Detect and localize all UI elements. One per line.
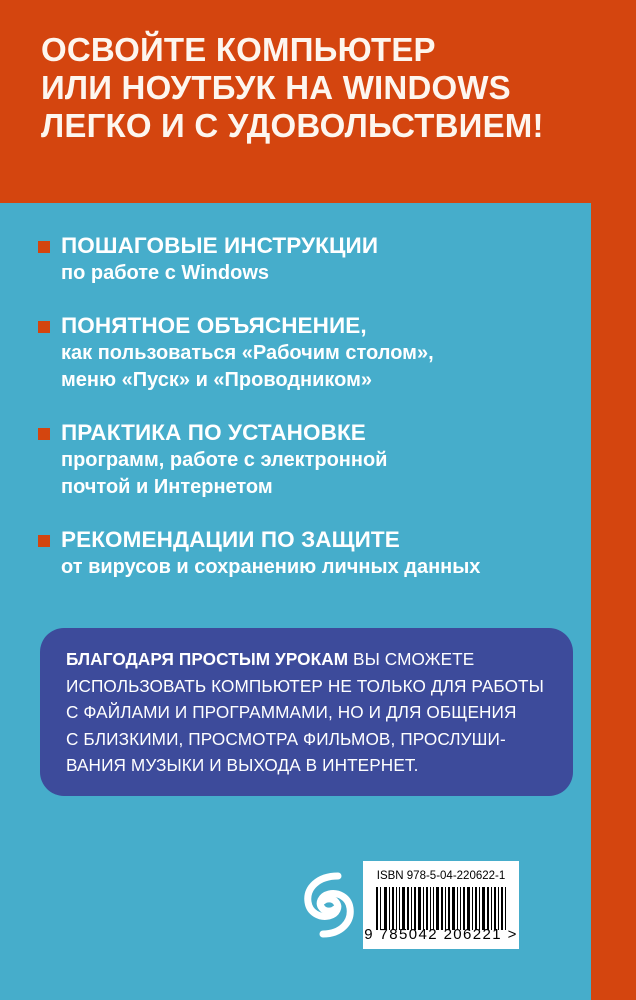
isbn-label: ISBN 978-5-04-220622-1 <box>363 870 519 882</box>
list-item: РЕКОМЕНДАЦИИ ПО ЗАЩИТЕ от вирусов и сохр… <box>38 526 568 581</box>
barcode-bars <box>376 887 506 930</box>
square-bullet-icon <box>38 241 50 253</box>
list-item-heading: ПОШАГОВЫЕ ИНСТРУКЦИИ <box>61 232 568 260</box>
summary-callout-box: БЛАГОДАРЯ ПРОСТЫМ УРОКАМ ВЫ СМОЖЕТЕ ИСПО… <box>40 628 573 796</box>
square-bullet-icon <box>38 321 50 333</box>
summary-callout-text: БЛАГОДАРЯ ПРОСТЫМ УРОКАМ ВЫ СМОЖЕТЕ ИСПО… <box>66 646 555 779</box>
list-item-heading: РЕКОМЕНДАЦИИ ПО ЗАЩИТЕ <box>61 526 568 554</box>
right-orange-edge <box>591 203 636 1000</box>
list-item-subtext: от вирусов и сохранению личных данных <box>61 554 568 581</box>
barcode-digits: 9 785042 206221 > <box>363 926 519 943</box>
book-back-cover: ОСВОЙТЕ КОМПЬЮТЕР ИЛИ НОУТБУК НА WINDOWS… <box>0 0 636 1000</box>
list-item-heading: ПОНЯТНОЕ ОБЪЯСНЕНИЕ, <box>61 312 568 340</box>
eksmo-logo-icon <box>296 866 362 944</box>
summary-callout-lead: БЛАГОДАРЯ ПРОСТЫМ УРОКАМ <box>66 649 348 669</box>
list-item: ПОШАГОВЫЕ ИНСТРУКЦИИ по работе с Windows <box>38 232 568 287</box>
list-item: ПОНЯТНОЕ ОБЪЯСНЕНИЕ, как пользоваться «Р… <box>38 312 568 394</box>
list-item-subtext: программ, работе с электронной почтой и … <box>61 447 568 501</box>
list-item-subtext: как пользоваться «Рабочим столом», меню … <box>61 340 568 394</box>
page-title: ОСВОЙТЕ КОМПЬЮТЕР ИЛИ НОУТБУК НА WINDOWS… <box>41 31 601 145</box>
headline-band: ОСВОЙТЕ КОМПЬЮТЕР ИЛИ НОУТБУК НА WINDOWS… <box>0 0 636 203</box>
square-bullet-icon <box>38 428 50 440</box>
list-item: ПРАКТИКА ПО УСТАНОВКЕ программ, работе с… <box>38 419 568 501</box>
square-bullet-icon <box>38 535 50 547</box>
list-item-heading: ПРАКТИКА ПО УСТАНОВКЕ <box>61 419 568 447</box>
list-item-subtext: по работе с Windows <box>61 260 568 287</box>
feature-bullet-list: ПОШАГОВЫЕ ИНСТРУКЦИИ по работе с Windows… <box>38 232 568 606</box>
barcode-block: ISBN 978-5-04-220622-1 9 785042 206221 > <box>363 861 519 949</box>
